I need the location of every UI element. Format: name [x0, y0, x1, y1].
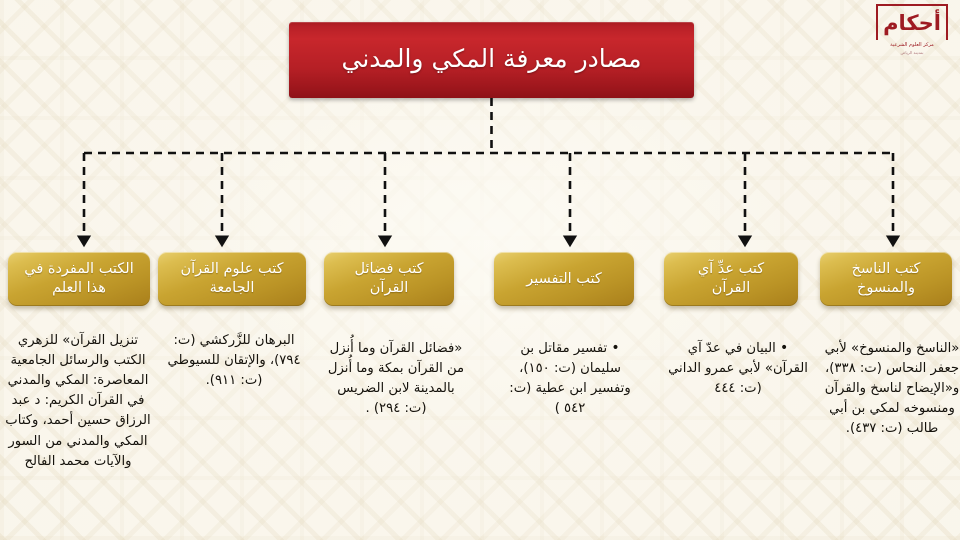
node-box-ulum-quran-jamia[interactable]: كتب علوم القرآن الجامعة — [158, 252, 306, 306]
detail-column-add-ay-quran: • البيان في عدّ آي القرآن» لأبي عمرو الد… — [668, 338, 808, 399]
detail-column-tafsir: • تفسير مقاتل بن سليمان (ت: ١٥٠)، وتفسير… — [500, 338, 640, 419]
page-title: مصادر معرفة المكي والمدني — [342, 44, 642, 77]
node-box-kutub-mufrada[interactable]: الكتب المفردة في هذا العلم — [8, 252, 150, 306]
detail-column-fadail-quran: «فضائل القرآن وما أُنزل من القرآن بمكة و… — [326, 338, 466, 419]
detail-text: البرهان للزَّركشي (ت: ٧٩٤)، والإتقان للس… — [167, 333, 300, 388]
node-label: كتب علوم القرآن الجامعة — [174, 260, 289, 297]
node-box-add-ay-quran[interactable]: كتب عدِّ آي القرآن — [664, 252, 798, 306]
detail-text: «الناسخ والمنسوخ» لأبي جعفر النحاس (ت: ٣… — [825, 341, 960, 436]
bullet-marker: • — [611, 340, 619, 356]
detail-text: «فضائل القرآن وما أُنزل من القرآن بمكة و… — [328, 341, 464, 416]
diagram-title-box: مصادر معرفة المكي والمدني — [289, 22, 694, 98]
node-box-tafsir[interactable]: كتب التفسير — [494, 252, 634, 306]
detail-column-nasikh-mansukh: «الناسخ والمنسوخ» لأبي جعفر النحاس (ت: ٣… — [824, 338, 960, 440]
logo-subtitle: مركز العلوم الشرعية — [876, 42, 948, 50]
detail-column-ulum-quran-jamia: البرهان للزَّركشي (ت: ٧٩٤)، والإتقان للس… — [160, 330, 308, 391]
organization-logo: أحكام مركز العلوم الشرعية بمدينة الرياض — [876, 4, 948, 60]
detail-text: تنزيل القرآن» للزهري الكتب والرسائل الجا… — [5, 333, 150, 469]
logo-frame: أحكام — [876, 4, 948, 40]
bullet-marker: • — [780, 340, 788, 356]
node-label: كتب الناسخ والمنسوخ — [846, 260, 927, 297]
node-box-fadail-quran[interactable]: كتب فضائل القرآن — [324, 252, 454, 306]
node-label: كتب فضائل القرآن — [348, 260, 429, 297]
logo-subtitle-secondary: بمدينة الرياض — [876, 50, 948, 56]
node-box-nasikh-mansukh[interactable]: كتب الناسخ والمنسوخ — [820, 252, 952, 306]
node-label: كتب عدِّ آي القرآن — [692, 260, 770, 297]
logo-wordmark: أحكام — [883, 13, 941, 34]
detail-column-kutub-mufrada: تنزيل القرآن» للزهري الكتب والرسائل الجا… — [2, 330, 154, 472]
node-label: الكتب المفردة في هذا العلم — [18, 260, 140, 297]
node-label: كتب التفسير — [520, 270, 608, 289]
